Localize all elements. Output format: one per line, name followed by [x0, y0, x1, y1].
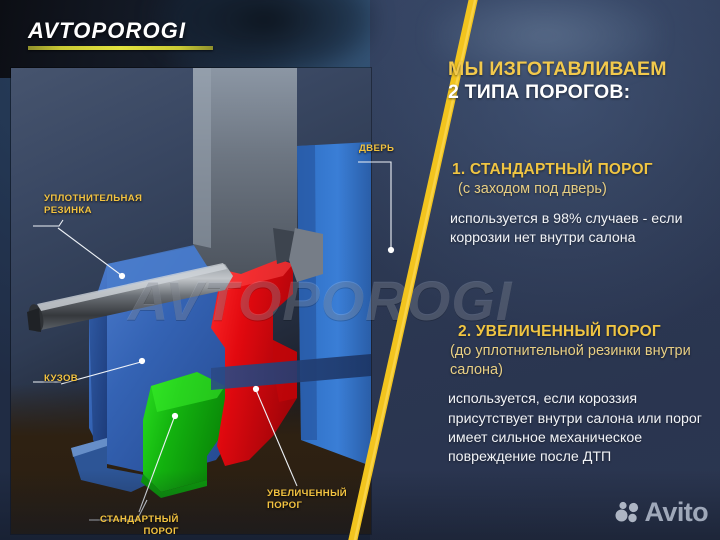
diagram-label-seal: УПЛОТНИТЕЛЬНАЯ РЕЗИНКА — [44, 193, 142, 216]
underline-seal — [33, 220, 63, 226]
sill-diagram-panel: УПЛОТНИТЕЛЬНАЯ РЕЗИНКА КУЗОВ СТАНДАРТНЫЙ… — [11, 68, 371, 534]
leader-seal — [58, 228, 121, 275]
content-column: МЫ ИЗГОТАВЛИВАЕМ 2 ТИПА ПОРОГОВ: 1. СТАН… — [448, 0, 712, 540]
leader-dot-enlarged — [253, 386, 259, 392]
avito-dots-icon — [614, 501, 640, 525]
headline-line-1: МЫ ИЗГОТАВЛИВАЕМ — [448, 58, 706, 81]
door-inner-skin-highlight — [193, 68, 211, 248]
diagram-label-standard: СТАНДАРТНЫЙ ПОРОГ — [100, 514, 179, 534]
leader-door — [358, 162, 391, 250]
brand-logo: AVTOPOROGI — [28, 20, 213, 50]
headline-line-2: 2 ТИПА ПОРОГОВ: — [448, 81, 706, 104]
section-enlarged-title: 2. УВЕЛИЧЕННЫЙ ПОРОГ — [448, 322, 710, 341]
seal-rubber-end-shadow — [27, 308, 41, 332]
avito-watermark: Avito — [614, 499, 709, 526]
leader-dot-door — [388, 247, 394, 253]
infographic-canvas: УПЛОТНИТЕЛЬНАЯ РЕЗИНКА КУЗОВ СТАНДАРТНЫЙ… — [0, 0, 720, 540]
section-enlarged-subtitle: (до уплотнительной резинки внутри салона… — [448, 342, 710, 379]
section-standard: 1. СТАНДАРТНЫЙ ПОРОГ (с заходом под двер… — [448, 160, 710, 249]
section-enlarged: 2. УВЕЛИЧЕННЫЙ ПОРОГ (до уплотнительной … — [448, 322, 710, 468]
leader-dot-body — [139, 358, 145, 364]
brand-logo-underline — [28, 46, 213, 50]
section-enlarged-body: используется, если короззия присутствует… — [448, 390, 710, 467]
section-standard-subtitle: (с заходом под дверь) — [448, 180, 710, 199]
leader-dot-seal — [119, 273, 125, 279]
diagram-label-enlarged: УВЕЛИЧЕННЫЙ ПОРОГ — [267, 488, 347, 511]
door-panel-edge-shadow — [297, 145, 317, 440]
door-leader-graphic — [355, 140, 415, 255]
section-standard-body: используется в 98% случаев - если корроз… — [448, 210, 710, 249]
sill-cross-section-illustration — [11, 68, 371, 534]
diagram-label-body: КУЗОВ — [44, 373, 78, 385]
section-standard-title: 1. СТАНДАРТНЫЙ ПОРОГ — [448, 160, 710, 179]
brand-logo-text: AVTOPOROGI — [28, 20, 213, 42]
leader-dot-standard — [172, 413, 178, 419]
door-skin-return — [289, 228, 323, 282]
avito-wordmark: Avito — [645, 499, 709, 526]
